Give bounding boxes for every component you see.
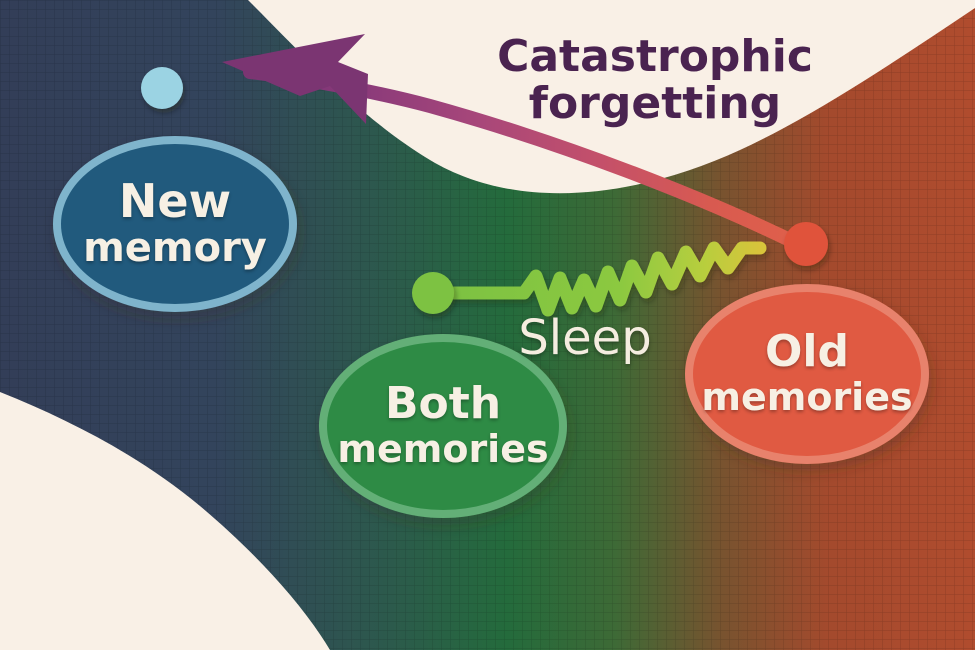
node-both-memories[interactable] — [319, 334, 567, 518]
node-old-memories[interactable] — [685, 284, 929, 464]
both-memories-dot[interactable] — [412, 272, 454, 314]
diagram-graphics — [0, 0, 975, 650]
node-new-memory[interactable] — [53, 136, 297, 312]
diagram-canvas: Catastrophic forgetting Sleep New memory… — [0, 0, 975, 650]
new-memory-dot[interactable] — [141, 67, 183, 109]
old-memories-dot[interactable] — [784, 222, 828, 266]
